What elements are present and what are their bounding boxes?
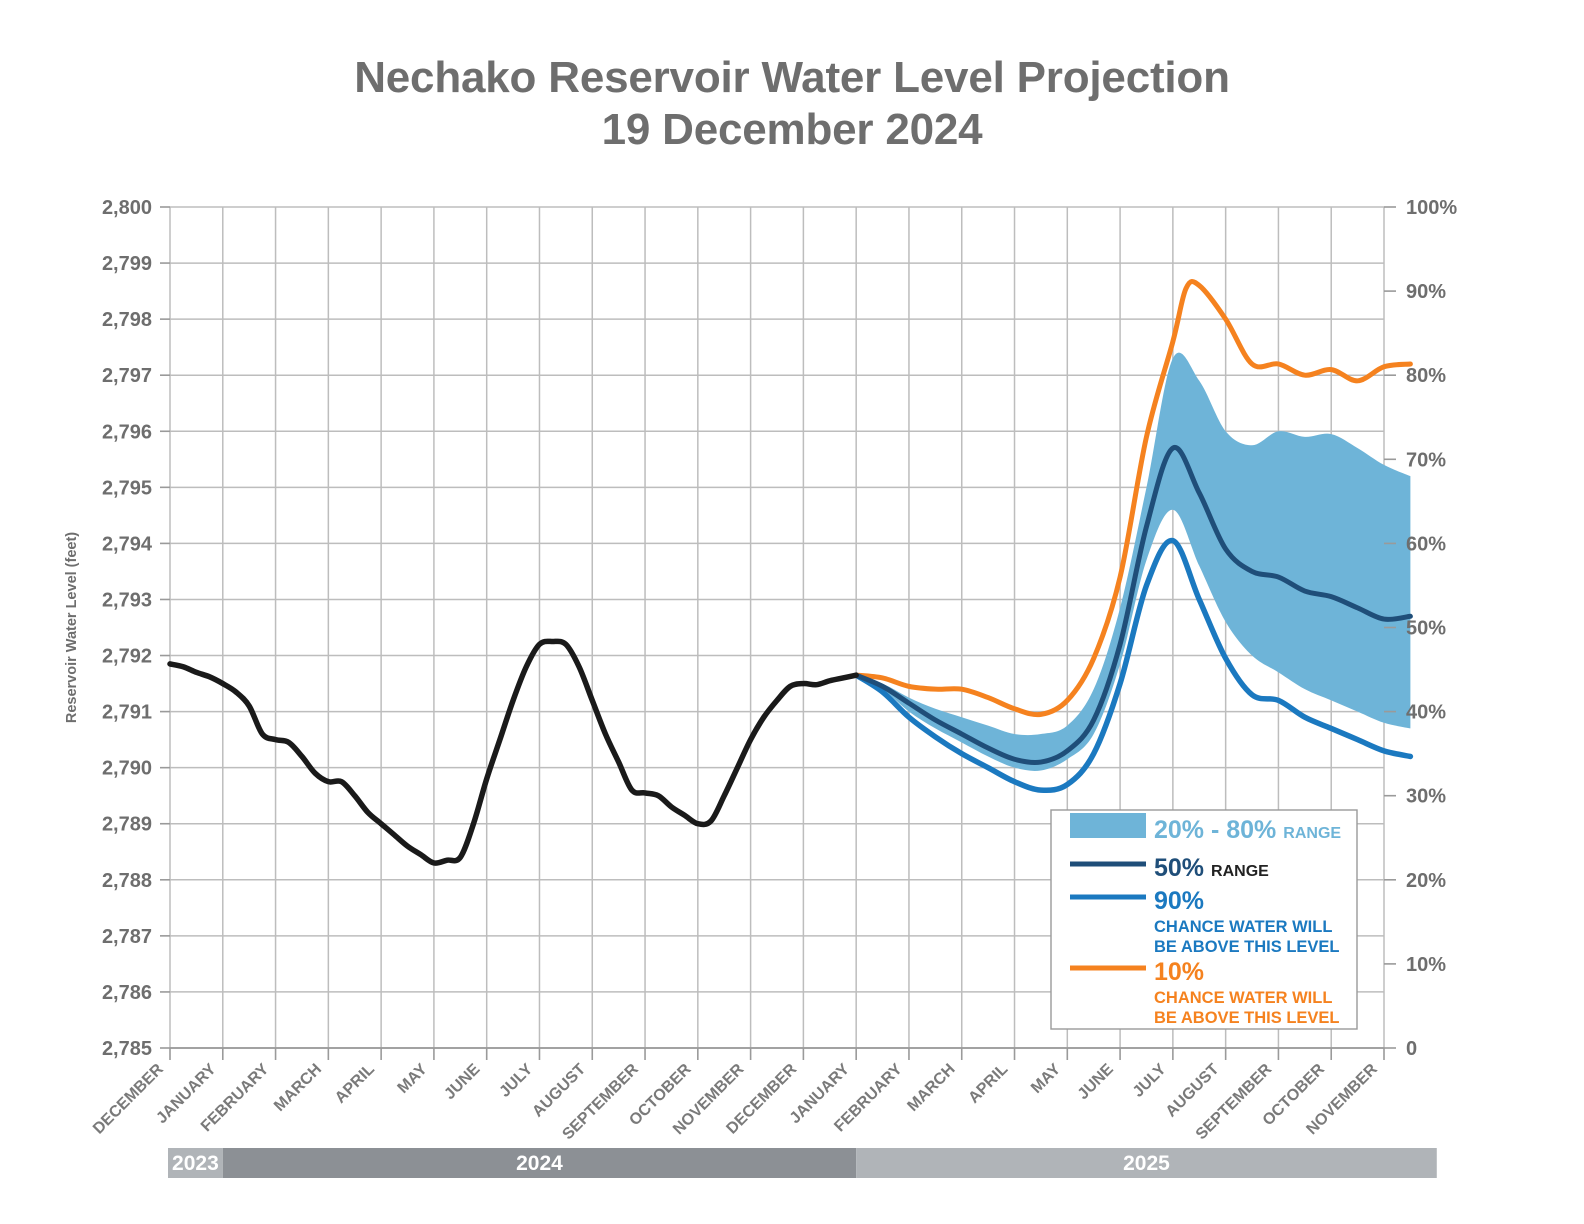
year-band-label: 2023 [172, 1152, 219, 1175]
x-axis-tick-label: JULY [1130, 1061, 1170, 1101]
x-axis-tick-label: JULY [496, 1061, 536, 1101]
x-axis-tick-label: MAY [395, 1061, 431, 1097]
y-axis-tick-label-left: 2,793 [102, 589, 152, 611]
x-axis-tick-label: JUNE [441, 1061, 483, 1103]
x-axis-tick-label: MARCH [904, 1061, 958, 1115]
y-axis-tick-label-right: 60% [1406, 533, 1446, 555]
x-axis-tick-label: MAY [1028, 1061, 1064, 1097]
y-axis-tick-label-left: 2,796 [102, 421, 152, 443]
legend-label-p90: 90% [1154, 887, 1204, 915]
y-axis-tick-label-right: 90% [1406, 281, 1446, 303]
series-layer [170, 281, 1410, 863]
x-axis-tick-label: APRIL [965, 1061, 1011, 1107]
y-axis-tick-label-left: 2,799 [102, 253, 152, 275]
legend-sublabel-p10: CHANCE WATER WILL [1154, 989, 1332, 1007]
y-axis-tick-label-left: 2,800 [102, 197, 152, 219]
y-axis-tick-label-left: 2,795 [102, 477, 152, 499]
x-axis-tick-label: APRIL [332, 1061, 378, 1107]
y-axis-tick-label-right: 20% [1406, 870, 1446, 892]
y-axis-tick-label-left: 2,785 [102, 1038, 152, 1060]
y-axis-tick-label-left: 2,787 [102, 926, 152, 948]
legend-label-p10: 10% [1154, 958, 1204, 986]
reservoir-projection-chart: 2,8002,7992,7982,7972,7962,7952,7942,793… [0, 0, 1584, 1224]
y-axis-tick-label-left: 2,797 [102, 365, 152, 387]
y-axis-tick-label-left: 2,791 [102, 702, 152, 724]
y-axis-tick-label-left: 2,798 [102, 309, 152, 331]
y-axis-tick-label-left: 2,790 [102, 758, 152, 780]
legend-sublabel-p10: BE ABOVE THIS LEVEL [1154, 1009, 1340, 1027]
legend-swatch-band-20-80 [1070, 813, 1146, 838]
y-axis-tick-label-right: 40% [1406, 702, 1446, 724]
year-band-label: 2025 [1123, 1152, 1170, 1175]
x-axis-tick-label: MARCH [271, 1061, 325, 1115]
y-axis-tick-label-left: 2,788 [102, 870, 152, 892]
y-axis-tick-label-right: 30% [1406, 786, 1446, 808]
y-axis-title: Reservoir Water Level (feet) [64, 532, 80, 723]
chart-legend[interactable]: 20% - 80%RANGE50%RANGE90%CHANCE WATER WI… [1051, 810, 1357, 1029]
y-axis-tick-label-right: 70% [1406, 449, 1446, 471]
y-axis-tick-label-left: 2,789 [102, 814, 152, 836]
y-axis-tick-label-right: 10% [1406, 954, 1446, 976]
y-axis-tick-label-right: 50% [1406, 618, 1446, 640]
y-axis-tick-label-right: 100% [1406, 197, 1457, 219]
legend-sublabel-p90: CHANCE WATER WILL [1154, 918, 1332, 936]
y-axis-tick-label-right: 0 [1406, 1038, 1417, 1060]
year-band-layer: 202320242025 [168, 1148, 1437, 1178]
year-band-label: 2024 [516, 1152, 563, 1175]
y-axis-tick-label-left: 2,786 [102, 982, 152, 1004]
x-axis-tick-label: JUNE [1075, 1061, 1117, 1103]
x-axis-tick-label: DECEMBER [90, 1060, 167, 1137]
band-20-80-area [856, 353, 1410, 771]
y-axis-tick-label-right: 80% [1406, 365, 1446, 387]
y-axis-tick-label-left: 2,794 [102, 533, 153, 555]
historical-line [170, 641, 856, 863]
legend-sublabel-p90: BE ABOVE THIS LEVEL [1154, 938, 1340, 956]
y-axis-tick-label-left: 2,792 [102, 646, 152, 668]
